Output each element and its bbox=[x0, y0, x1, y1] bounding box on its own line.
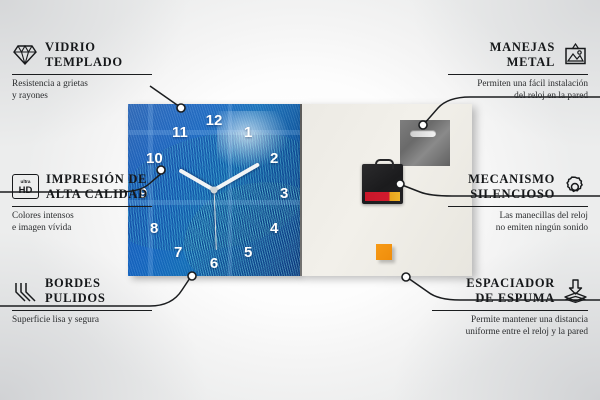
callout-title: ESPACIADOR DE ESPUMA bbox=[466, 276, 555, 306]
clock-numeral-11: 11 bbox=[172, 125, 188, 140]
callout-title-line2: PULIDOS bbox=[45, 291, 105, 305]
callout-vidrio-templado: VIDRIO TEMPLADO Resistencia a grietas y … bbox=[12, 40, 152, 102]
callout-title-line1: ESPACIADOR bbox=[466, 276, 555, 290]
callout-subtitle-line2: uniforme entre el reloj y la pared bbox=[466, 327, 588, 337]
hand-center-cap bbox=[211, 187, 218, 194]
callout-title-line1: MECANISMO bbox=[468, 172, 555, 186]
clock-numeral-10: 10 bbox=[146, 151, 163, 166]
press-down-icon bbox=[562, 279, 588, 303]
callout-title-line2: DE ESPUMA bbox=[475, 291, 555, 305]
callout-header: ultra HD IMPRESIÓN DE ALTA CALIDAD bbox=[12, 172, 152, 202]
callout-mecanismo-silencioso: MECANISMO SILENCIOSO Las manecillas del … bbox=[448, 172, 588, 234]
callout-header: BORDES PULIDOS bbox=[12, 276, 152, 306]
callout-title-line2: SILENCIOSO bbox=[470, 187, 555, 201]
callout-header: ESPACIADOR DE ESPUMA bbox=[432, 276, 588, 306]
callout-subtitle: Superficie lisa y segura bbox=[12, 314, 152, 326]
polished-edges-icon bbox=[12, 279, 38, 303]
callout-title: BORDES PULIDOS bbox=[45, 276, 105, 306]
hanger-slot bbox=[410, 130, 436, 137]
clock-mechanism bbox=[362, 164, 403, 204]
ultra-hd-icon: ultra HD bbox=[12, 174, 39, 199]
gear-icon bbox=[562, 175, 588, 199]
mechanism-label bbox=[365, 192, 400, 201]
callout-title-line1: MANEJAS bbox=[490, 40, 555, 54]
clock-numeral-12: 12 bbox=[206, 113, 223, 128]
mechanism-loop bbox=[375, 159, 394, 169]
callout-subtitle-line2: no emiten ningún sonido bbox=[496, 223, 588, 233]
clock-numeral-2: 2 bbox=[270, 151, 278, 166]
metal-hanger-plate bbox=[400, 120, 450, 166]
callout-subtitle: Resistencia a grietas y rayones bbox=[12, 78, 152, 103]
callout-title-line1: BORDES bbox=[45, 276, 101, 290]
callout-rule bbox=[448, 74, 588, 75]
callout-subtitle-line1: Colores intensos bbox=[12, 211, 74, 221]
callout-title-line2: TEMPLADO bbox=[45, 55, 123, 69]
callout-rule bbox=[12, 74, 152, 75]
callout-subtitle-line1: Las manecillas del reloj bbox=[499, 211, 588, 221]
callout-subtitle-line1: Permite mantener una distancia bbox=[471, 315, 588, 325]
callout-subtitle: Permiten una fácil instalación del reloj… bbox=[448, 78, 588, 103]
clock-numeral-3: 3 bbox=[280, 186, 288, 201]
callout-title-line1: VIDRIO bbox=[45, 40, 96, 54]
infographic-canvas: 12 1 2 3 4 5 6 7 8 9 10 11 bbox=[0, 0, 600, 400]
product-image: 12 1 2 3 4 5 6 7 8 9 10 11 bbox=[128, 104, 472, 276]
callout-title: MECANISMO SILENCIOSO bbox=[468, 172, 555, 202]
callout-espaciador-de-espuma: ESPACIADOR DE ESPUMA Permite mantener un… bbox=[432, 276, 588, 338]
callout-header: MANEJAS METAL bbox=[448, 40, 588, 70]
foam-spacer bbox=[376, 244, 392, 260]
callout-subtitle: Las manecillas del reloj no emiten ningú… bbox=[448, 210, 588, 235]
callout-rule bbox=[448, 206, 588, 207]
callout-bordes-pulidos: BORDES PULIDOS Superficie lisa y segura bbox=[12, 276, 152, 326]
callout-impresion-alta-calidad: ultra HD IMPRESIÓN DE ALTA CALIDAD Color… bbox=[12, 172, 152, 234]
artwork-highlight bbox=[217, 111, 289, 169]
clock-numeral-4: 4 bbox=[270, 221, 278, 236]
callout-title: IMPRESIÓN DE ALTA CALIDAD bbox=[46, 172, 148, 202]
callout-header: VIDRIO TEMPLADO bbox=[12, 40, 152, 70]
callout-subtitle-line2: e imagen vívida bbox=[12, 223, 71, 233]
panel-seam bbox=[300, 104, 302, 276]
callout-subtitle-line2: y rayones bbox=[12, 91, 48, 101]
callout-title-line1: IMPRESIÓN DE bbox=[46, 172, 147, 186]
callout-title-line2: METAL bbox=[507, 55, 555, 69]
wall-frame-hanger-icon bbox=[562, 43, 588, 67]
callout-rule bbox=[432, 310, 588, 311]
callout-title: MANEJAS METAL bbox=[490, 40, 555, 70]
callout-subtitle-line1: Superficie lisa y segura bbox=[12, 315, 99, 325]
diamond-icon bbox=[12, 43, 38, 67]
callout-subtitle: Permite mantener una distancia uniforme … bbox=[432, 314, 588, 339]
callout-title: VIDRIO TEMPLADO bbox=[45, 40, 123, 70]
callout-rule bbox=[12, 206, 152, 207]
callout-subtitle-line1: Resistencia a grietas bbox=[12, 79, 88, 89]
clock-numeral-6: 6 bbox=[210, 256, 218, 271]
clock-numeral-1: 1 bbox=[244, 125, 252, 140]
ultra-hd-icon-main: HD bbox=[19, 186, 33, 196]
callout-manejas-metal: MANEJAS METAL Permiten una fácil instala… bbox=[448, 40, 588, 102]
callout-rule bbox=[12, 310, 152, 311]
clock-numeral-7: 7 bbox=[174, 245, 182, 260]
clock-back-panel bbox=[300, 104, 472, 276]
clock-numeral-5: 5 bbox=[244, 245, 252, 260]
callout-subtitle-line1: Permiten una fácil instalación bbox=[477, 79, 588, 89]
callout-title-line2: ALTA CALIDAD bbox=[46, 187, 148, 201]
clock-front-panel: 12 1 2 3 4 5 6 7 8 9 10 11 bbox=[128, 104, 300, 276]
callout-header: MECANISMO SILENCIOSO bbox=[448, 172, 588, 202]
callout-subtitle: Colores intensos e imagen vívida bbox=[12, 210, 152, 235]
callout-subtitle-line2: del reloj en la pared bbox=[514, 91, 588, 101]
